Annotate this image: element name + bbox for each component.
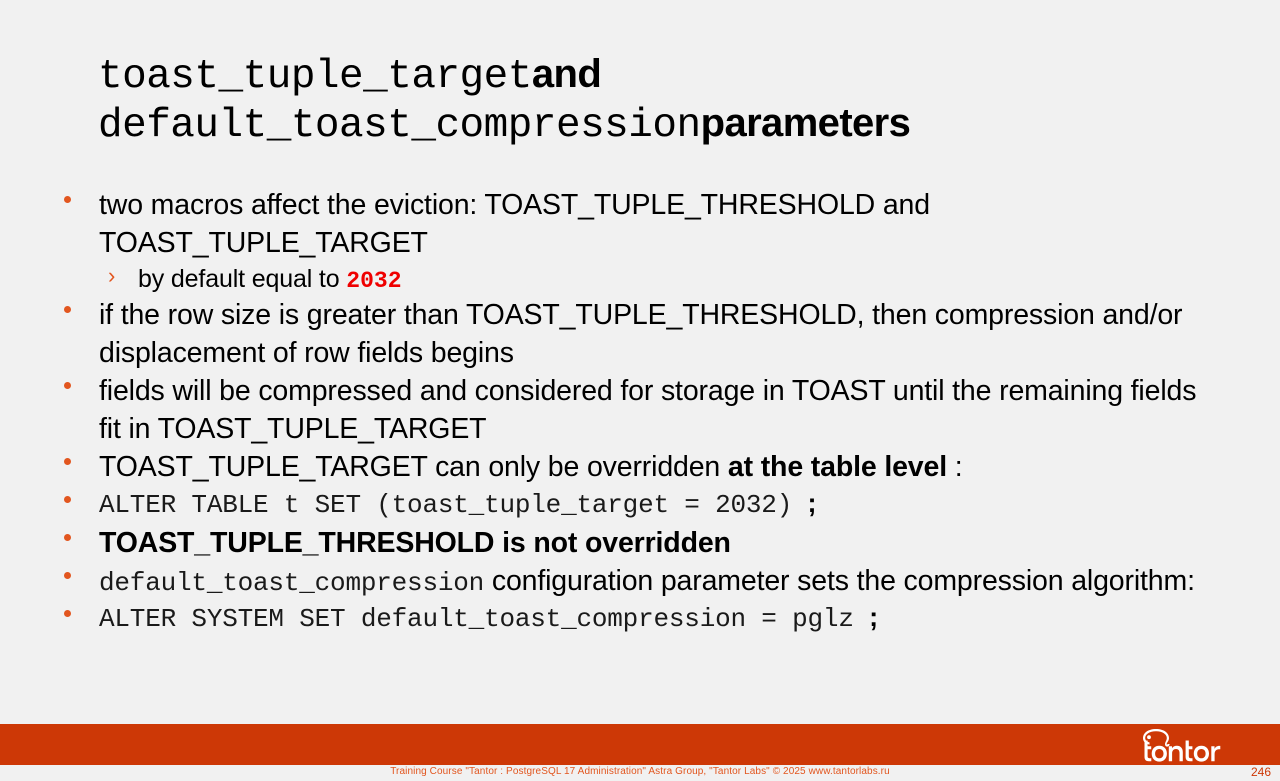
list-item-code: ALTER SYSTEM SET default_toast_compressi…: [0, 600, 1280, 638]
title-param-toast-tuple-target: toast_tuple_target: [98, 54, 532, 100]
list-item: fields will be compressed and considered…: [0, 372, 1280, 448]
chevron-right-icon: ›: [108, 264, 115, 288]
param-default-toast-compression: default_toast_compression: [99, 568, 484, 598]
bullet-dot-icon: [64, 572, 71, 579]
list-item: TOAST_TUPLE_THRESHOLD is not overridden: [0, 524, 1280, 562]
list-item-text: configuration parameter sets the compres…: [484, 565, 1195, 597]
list-item-text: fields will be compressed and considered…: [99, 375, 1196, 445]
footer-credit: Training Course "Tantor : PostgreSQL 17 …: [0, 766, 1280, 777]
bullet-dot-icon: [64, 610, 71, 617]
list-item-text-bold: TOAST_TUPLE_THRESHOLD is not overridden: [99, 527, 731, 559]
default-value-2032: 2032: [346, 268, 401, 294]
list-item-text: TOAST_TUPLE_TARGET can only be overridde…: [99, 451, 728, 483]
emphasis-table-level: at the table level: [728, 451, 947, 483]
list-item-text: two macros affect the eviction: TOAST_TU…: [99, 189, 930, 259]
statement-terminator: ;: [808, 488, 817, 518]
list-item-sub: › by default equal to 2032: [0, 262, 1280, 296]
title-line-2: default_toast_compressionparameters: [98, 101, 1198, 150]
list-item: two macros affect the eviction: TOAST_TU…: [0, 186, 1280, 262]
bullet-dot-icon: [64, 458, 71, 465]
statement-terminator: ;: [869, 602, 878, 632]
list-item-sub-text: by default equal to: [138, 265, 346, 293]
sql-alter-table-statement: ALTER TABLE t SET (toast_tuple_target = …: [99, 490, 808, 520]
list-item-code: ALTER TABLE t SET (toast_tuple_target = …: [0, 486, 1280, 524]
footer-accent-bar: [0, 724, 1280, 765]
bullet-list: two macros affect the eviction: TOAST_TU…: [0, 186, 1280, 638]
title-line-1: toast_tuple_targetand: [98, 52, 1198, 101]
list-item-text: if the row size is greater than TOAST_TU…: [99, 299, 1182, 369]
bullet-dot-icon: [64, 196, 71, 203]
page-number: 246: [1251, 765, 1271, 779]
tantor-logo: [1138, 727, 1258, 765]
list-item: default_toast_compression configuration …: [0, 562, 1280, 600]
list-item: if the row size is greater than TOAST_TU…: [0, 296, 1280, 372]
slide-canvas: toast_tuple_targetand default_toast_comp…: [0, 0, 1280, 781]
bullet-dot-icon: [64, 306, 71, 313]
list-item-text-tail: :: [947, 451, 963, 483]
bullet-dot-icon: [64, 534, 71, 541]
title-param-default-toast-compression: default_toast_compression: [98, 103, 701, 149]
bullet-dot-icon: [64, 382, 71, 389]
title-conjunction: and: [532, 52, 601, 96]
list-item: TOAST_TUPLE_TARGET can only be overridde…: [0, 448, 1280, 486]
title-noun-parameters: parameters: [701, 101, 911, 145]
slide-title: toast_tuple_targetand default_toast_comp…: [98, 52, 1198, 150]
bullet-dot-icon: [64, 496, 71, 503]
tantor-logo-mark: [1138, 727, 1258, 765]
sql-alter-system-statement: ALTER SYSTEM SET default_toast_compressi…: [99, 604, 869, 634]
